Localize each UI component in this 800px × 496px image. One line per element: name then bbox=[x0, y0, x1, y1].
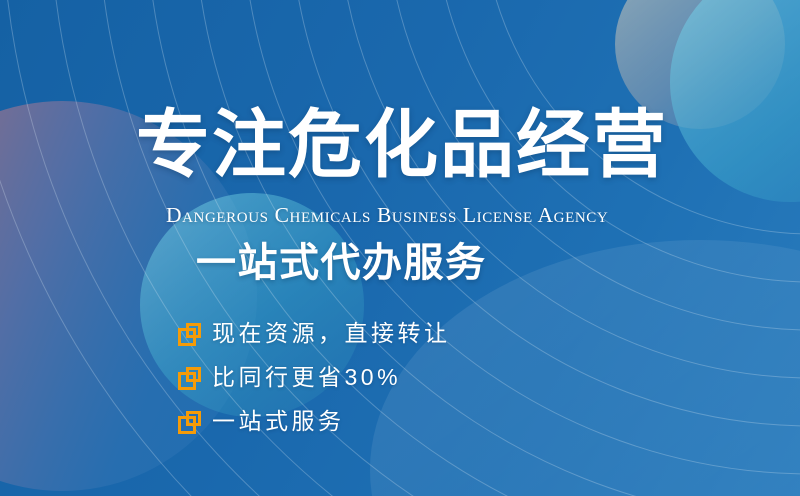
english-subtitle: Dangerous Chemicals Business License Age… bbox=[166, 205, 608, 227]
list-item-label: 比同行更省30% bbox=[212, 366, 401, 389]
service-subtitle: 一站式代办服务 bbox=[196, 243, 487, 283]
overlapping-squares-icon bbox=[178, 411, 201, 434]
page-title: 专注危化品经营 bbox=[136, 108, 668, 182]
list-item: 一站式服务 bbox=[178, 402, 451, 440]
list-item: 比同行更省30% bbox=[178, 358, 451, 396]
feature-list: 现在资源，直接转让 比同行更省30% 一站式 bbox=[178, 314, 451, 446]
banner-content: 专注危化品经营 Dangerous Chemicals Business Lic… bbox=[0, 0, 800, 496]
overlapping-squares-icon bbox=[178, 323, 201, 346]
list-item: 现在资源，直接转让 bbox=[178, 314, 451, 352]
list-item-label: 一站式服务 bbox=[212, 410, 345, 433]
promotional-banner: 专注危化品经营 Dangerous Chemicals Business Lic… bbox=[0, 0, 800, 496]
overlapping-squares-icon bbox=[178, 367, 201, 390]
list-item-label: 现在资源，直接转让 bbox=[212, 322, 451, 345]
